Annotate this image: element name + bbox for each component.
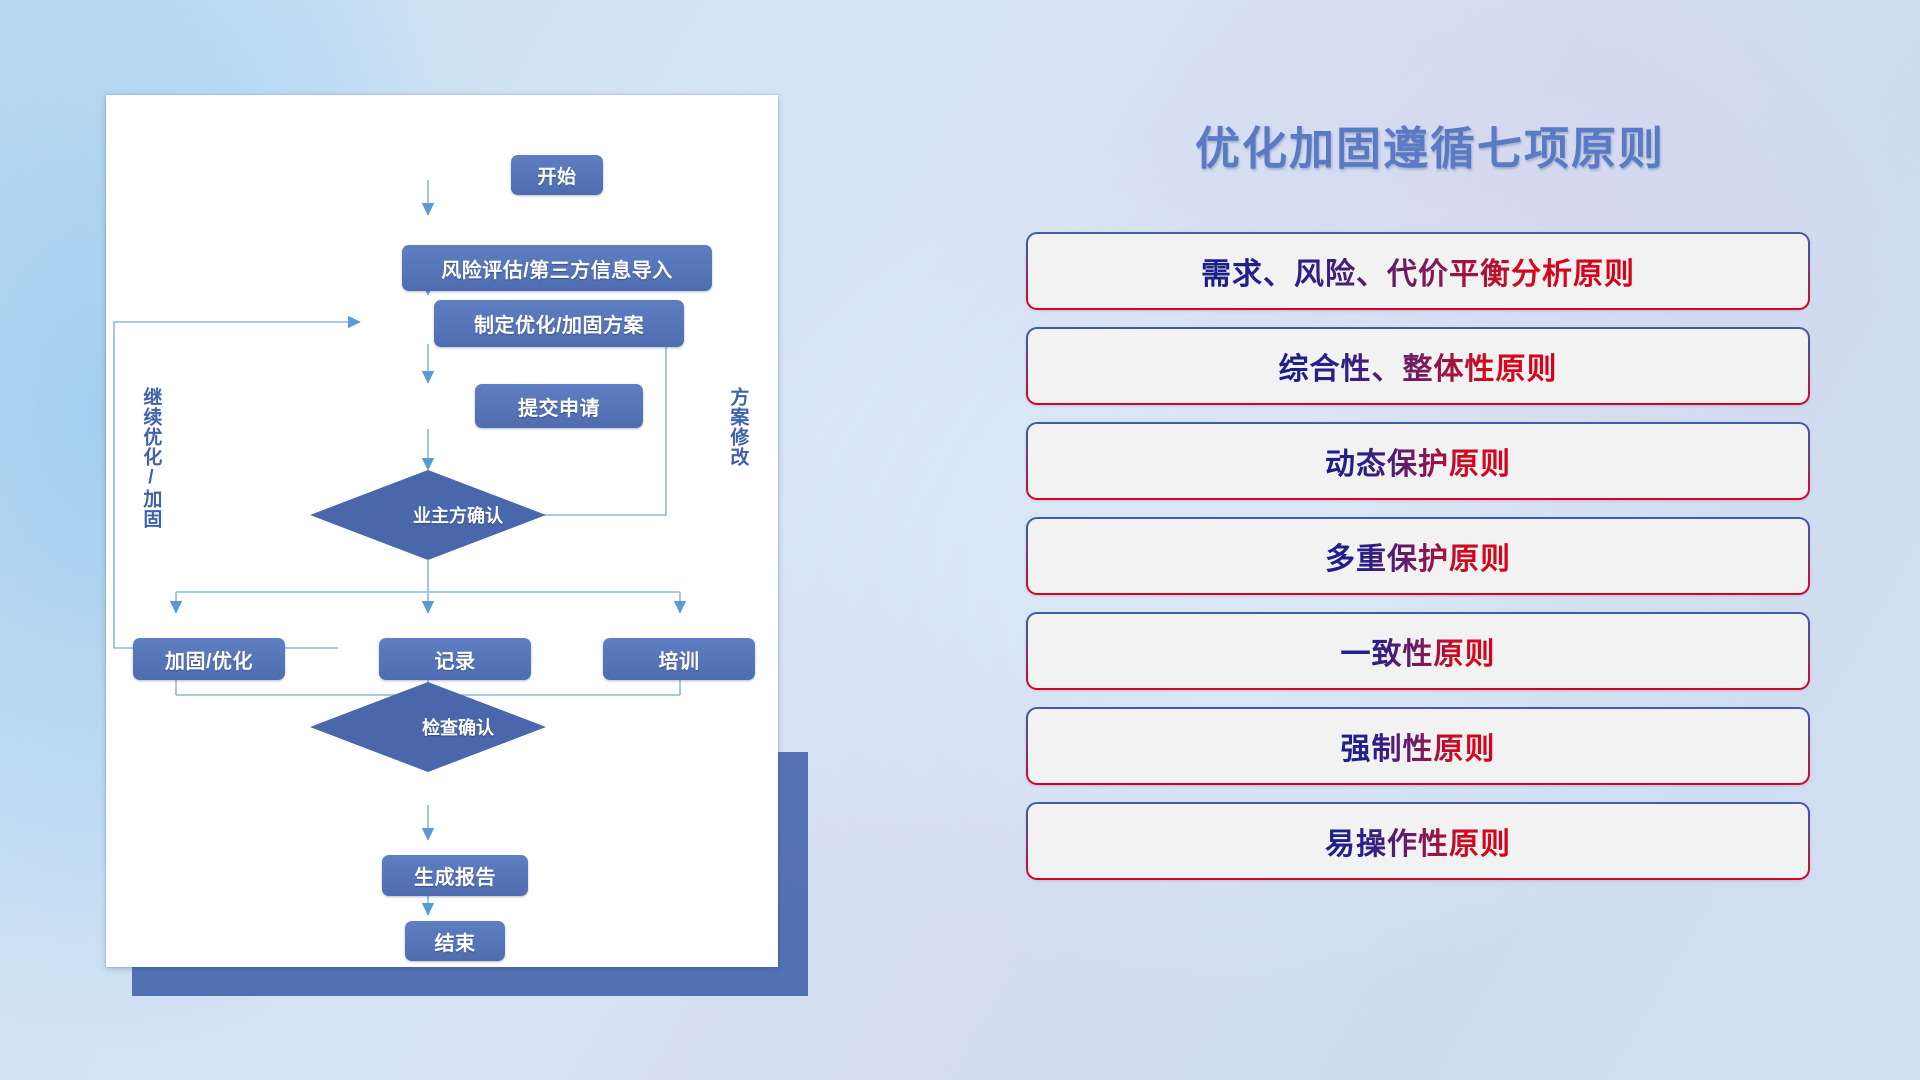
principle-label: 动态保护原则 — [1325, 439, 1511, 483]
flow-node-label: 开始 — [537, 162, 576, 189]
principle-card[interactable]: 强制性原则 — [1026, 707, 1810, 785]
principle-label: 多重保护原则 — [1325, 534, 1511, 578]
edge-label-continue-optimize: 继续优化/加固 — [141, 387, 160, 529]
edge-label-plan-revision: 方案修改 — [728, 387, 747, 467]
flow-node-training[interactable]: 培训 — [603, 638, 755, 680]
principle-card[interactable]: 多重保护原则 — [1026, 517, 1810, 595]
principles-list: 需求、风险、代价平衡分析原则 综合性、整体性原则 动态保护原则 多重保护原则 一… — [1026, 232, 1810, 897]
flow-node-make-plan[interactable]: 制定优化/加固方案 — [434, 300, 684, 347]
page-title: 优化加固遵循七项原则 — [1030, 112, 1830, 177]
flow-node-record[interactable]: 记录 — [379, 638, 531, 680]
flow-node-label: 风险评估/第三方信息导入 — [441, 254, 673, 283]
principle-label: 需求、风险、代价平衡分析原则 — [1201, 249, 1635, 293]
principle-label: 一致性原则 — [1341, 629, 1496, 673]
principle-label: 强制性原则 — [1341, 724, 1496, 768]
flow-node-start[interactable]: 开始 — [511, 155, 603, 195]
flow-node-label: 培训 — [659, 645, 700, 674]
principle-card[interactable]: 易操作性原则 — [1026, 802, 1810, 880]
principle-card[interactable]: 综合性、整体性原则 — [1026, 327, 1810, 405]
flow-node-label: 提交申请 — [518, 392, 600, 421]
flow-node-label: 生成报告 — [414, 861, 496, 890]
slide-canvas: 开始 风险评估/第三方信息导入 制定优化/加固方案 提交申请 业主方确认 加固/… — [0, 0, 1920, 1080]
flow-node-label: 制定优化/加固方案 — [474, 309, 644, 338]
principle-label: 易操作性原则 — [1325, 819, 1511, 863]
flow-node-label: 结束 — [435, 927, 476, 956]
flow-node-generate-report[interactable]: 生成报告 — [382, 855, 528, 896]
principle-card[interactable]: 动态保护原则 — [1026, 422, 1810, 500]
flow-node-reinforce-optimize[interactable]: 加固/优化 — [133, 638, 285, 680]
decision-inspection-confirm-label: 检查确认 — [400, 710, 516, 744]
flow-node-label: 加固/优化 — [165, 645, 253, 674]
principle-card[interactable]: 一致性原则 — [1026, 612, 1810, 690]
decision-owner-confirm-label: 业主方确认 — [400, 498, 516, 532]
flow-node-label: 记录 — [435, 645, 476, 674]
flow-node-risk-assessment[interactable]: 风险评估/第三方信息导入 — [402, 245, 712, 291]
flow-node-submit-application[interactable]: 提交申请 — [475, 384, 643, 428]
principle-card[interactable]: 需求、风险、代价平衡分析原则 — [1026, 232, 1810, 310]
flow-node-end[interactable]: 结束 — [405, 921, 505, 961]
principle-label: 综合性、整体性原则 — [1279, 344, 1558, 388]
